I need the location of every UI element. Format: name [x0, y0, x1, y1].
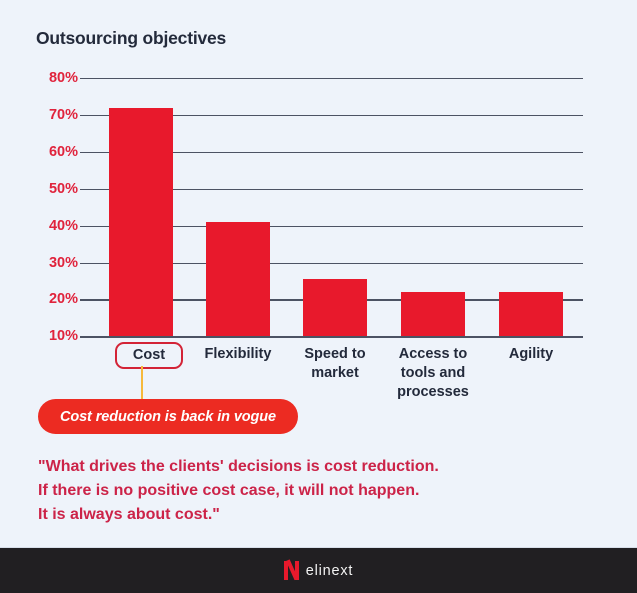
gridline-80	[88, 78, 583, 79]
quote-line-1: "What drives the clients' decisions is c…	[38, 455, 608, 479]
y-tick-mark	[80, 189, 108, 190]
y-tick-mark	[80, 78, 108, 79]
y-tick-mark	[80, 226, 108, 227]
bar-access-to-tools-and-processes	[401, 292, 465, 336]
callout-connector-line	[141, 366, 143, 400]
y-axis-tick-label: 60%	[30, 144, 78, 160]
y-axis-tick-label: 40%	[30, 218, 78, 234]
footer-bar: elinext	[0, 548, 637, 593]
y-axis-tick-label: 50%	[30, 181, 78, 197]
x-axis-label-flexibility: Flexibility	[190, 345, 286, 364]
callout-badge: Cost reduction is back in vogue	[38, 399, 298, 434]
x-axis-line	[88, 336, 583, 338]
elinext-n-mark-icon	[284, 561, 299, 580]
y-tick-mark	[80, 115, 108, 116]
bar-cost	[109, 108, 173, 336]
quote-line-3: It is always about cost."	[38, 503, 608, 527]
y-axis-tick-label: 30%	[30, 255, 78, 271]
bar-flexibility	[206, 222, 270, 336]
brand-logo-text: elinext	[306, 563, 354, 579]
bar-agility	[499, 292, 563, 336]
y-tick-mark	[80, 152, 108, 153]
x-axis-label-agility: Agility	[483, 345, 579, 364]
y-axis-tick-label: 70%	[30, 107, 78, 123]
y-tick-mark	[80, 299, 108, 300]
quote-line-2: If there is no positive cost case, it wi…	[38, 479, 608, 503]
chart-plot-area: 80%70%60%50%40%30%20%10%	[0, 0, 637, 345]
x-axis-label-access-to-tools-and-processes: Access to tools and processes	[385, 345, 481, 402]
infographic-canvas: Outsourcing objectives 80%70%60%50%40%30…	[0, 0, 637, 593]
y-axis-tick-label: 20%	[30, 291, 78, 307]
y-axis-tick-label: 80%	[30, 70, 78, 86]
x-axis-label-cost: Cost	[115, 342, 183, 369]
x-axis-label-speed-to-market: Speed to market	[287, 345, 383, 383]
quote-block: "What drives the clients' decisions is c…	[38, 455, 608, 527]
callout-text: Cost reduction is back in vogue	[60, 409, 276, 425]
bar-speed-to-market	[303, 279, 367, 336]
y-tick-mark	[80, 263, 108, 264]
